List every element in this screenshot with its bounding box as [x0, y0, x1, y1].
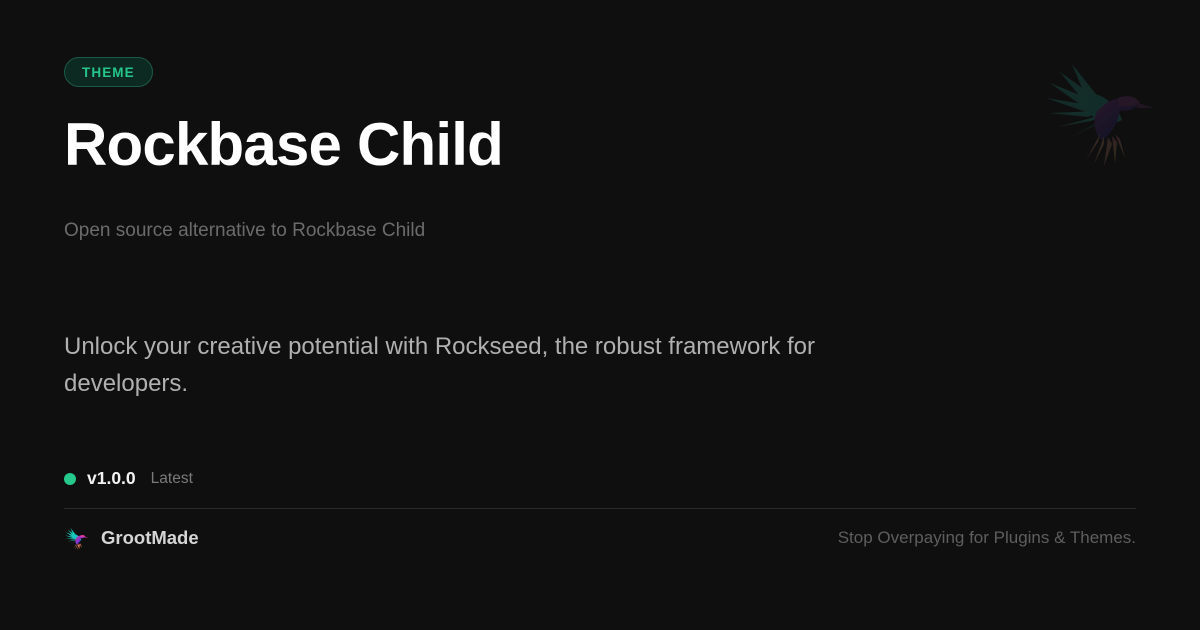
footer-tagline: Stop Overpaying for Plugins & Themes.	[838, 528, 1136, 548]
footer: GrootMade Stop Overpaying for Plugins & …	[64, 525, 1136, 551]
version-number: v1.0.0	[87, 468, 136, 489]
badge-row: THEME	[64, 0, 1136, 87]
status-dot-icon	[64, 473, 76, 485]
brand-name: GrootMade	[101, 527, 199, 549]
version-tag: Latest	[151, 470, 193, 488]
page-title: Rockbase Child	[64, 113, 1136, 177]
og-card: THEME Rockbase Child Open source alterna…	[0, 0, 1200, 630]
page-description: Unlock your creative potential with Rock…	[64, 328, 894, 402]
page-subtitle: Open source alternative to Rockbase Chil…	[64, 218, 1136, 245]
status-badge: THEME	[64, 57, 153, 87]
footer-divider	[64, 508, 1136, 509]
brand: GrootMade	[64, 525, 199, 551]
content-column: THEME Rockbase Child Open source alterna…	[64, 0, 1136, 551]
hummingbird-icon	[64, 525, 90, 551]
version-row: v1.0.0 Latest	[64, 468, 1136, 489]
